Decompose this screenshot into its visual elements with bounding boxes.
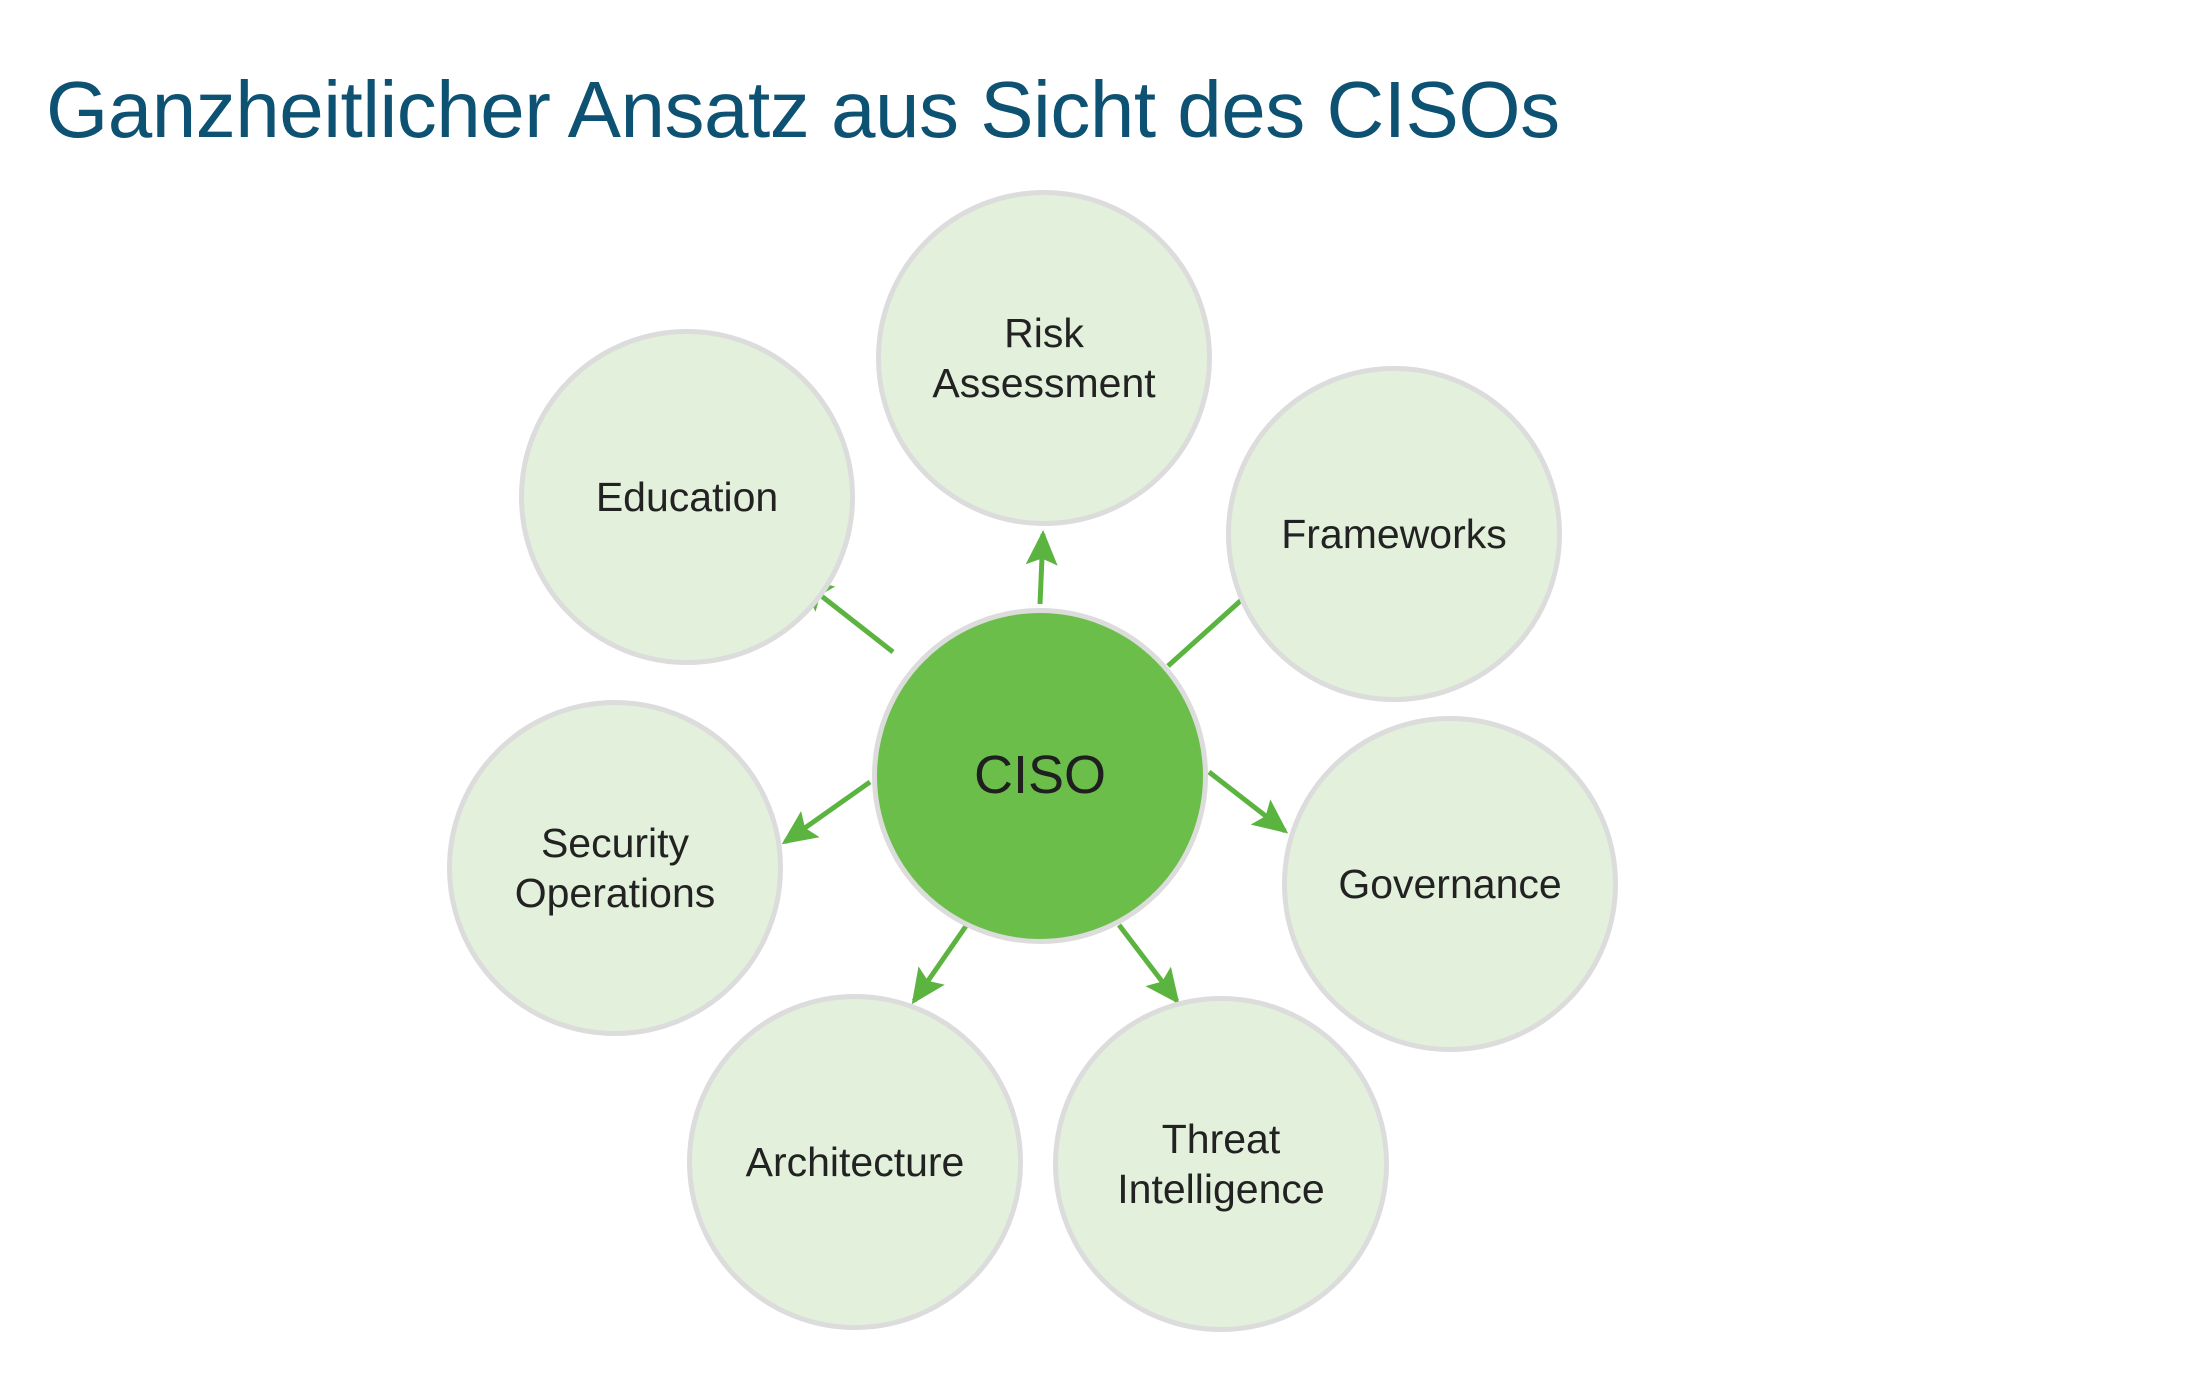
node-label: Risk Assessment [914,308,1173,408]
slide-canvas: Ganzheitlicher Ansatz aus Sicht des CISO… [0,0,2200,1384]
node-label: Frameworks [1263,509,1525,559]
node-threat-intelligence[interactable]: Threat Intelligence [1053,996,1389,1332]
node-risk-assessment[interactable]: Risk Assessment [876,190,1212,526]
node-label: Education [578,472,796,522]
node-ciso-hub[interactable]: CISO [872,608,1208,944]
radial-diagram: Risk Assessment Frameworks Governance Th… [0,0,2200,1384]
node-governance[interactable]: Governance [1282,716,1618,1052]
hub-label: CISO [956,743,1124,809]
node-security-operations[interactable]: Security Operations [447,700,783,1036]
node-label: Security Operations [497,818,734,918]
node-education[interactable]: Education [519,329,855,665]
arrow-to-governance [1209,772,1285,831]
node-label: Architecture [728,1137,983,1187]
arrow-to-architecture [914,926,966,1001]
arrow-to-risk-assessment [1040,534,1043,604]
arrow-to-threat-intelligence [1119,925,1177,1001]
node-label: Governance [1320,859,1579,909]
node-label: Threat Intelligence [1099,1114,1342,1214]
node-frameworks[interactable]: Frameworks [1226,366,1562,702]
arrow-to-security-operations [785,782,870,842]
node-architecture[interactable]: Architecture [687,994,1023,1330]
